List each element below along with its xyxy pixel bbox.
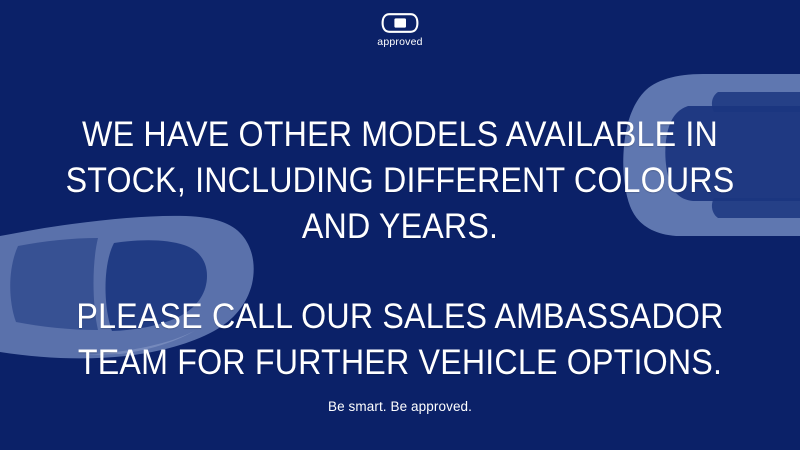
car-top-view-icon — [381, 12, 419, 34]
approved-notice-banner: approved WE HAVE OTHER MODELS AVAILABLE … — [0, 0, 800, 450]
message-primary: WE HAVE OTHER MODELS AVAILABLE IN STOCK,… — [32, 112, 768, 250]
tagline: Be smart. Be approved. — [0, 398, 800, 416]
brand-lockup: approved — [0, 12, 800, 48]
message-spacer — [0, 250, 800, 294]
message-secondary: PLEASE CALL OUR SALES AMBASSADOR TEAM FO… — [32, 294, 768, 386]
brand-name: approved — [377, 37, 422, 48]
message-block: WE HAVE OTHER MODELS AVAILABLE IN STOCK,… — [0, 112, 800, 386]
